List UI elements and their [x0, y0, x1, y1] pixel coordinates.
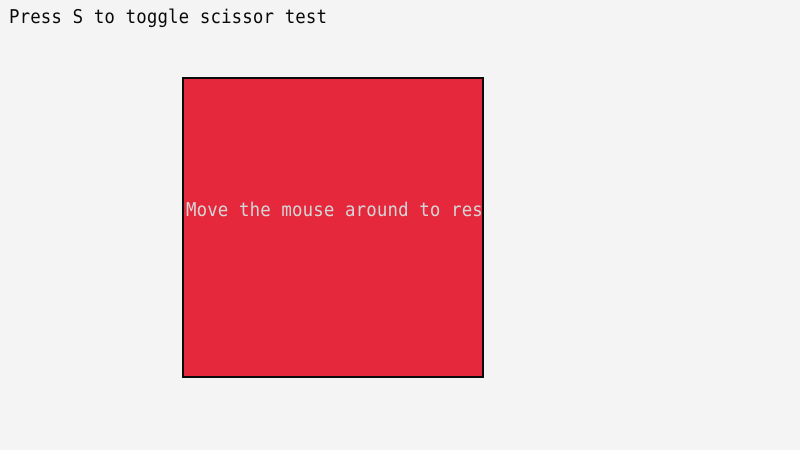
demo-canvas[interactable]: Press S to toggle scissor test Move the …: [0, 0, 800, 450]
scissor-instruction-text: Move the mouse around to reset the sciss…: [186, 199, 482, 221]
hint-bar: Press S to toggle scissor test: [0, 0, 800, 34]
scissor-clip-region: Move the mouse around to reset the sciss…: [184, 79, 482, 376]
scissor-toggle-hint: Press S to toggle scissor test: [9, 6, 327, 28]
scissor-rectangle[interactable]: Move the mouse around to reset the sciss…: [182, 77, 484, 378]
